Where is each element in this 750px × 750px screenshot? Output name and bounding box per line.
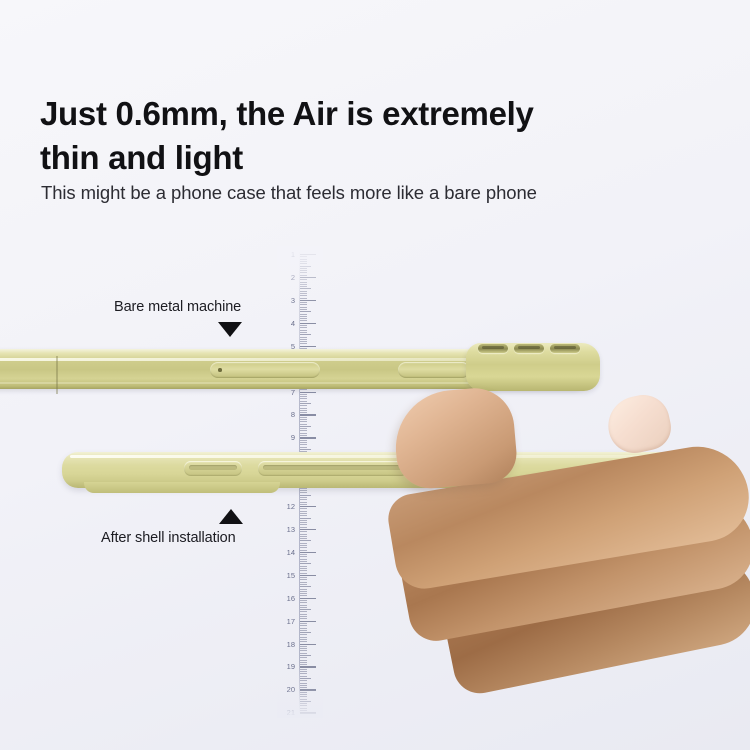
camera-lens-2 <box>514 344 544 353</box>
ruler-tick-minor <box>300 318 307 319</box>
ruler-tick-minor <box>300 584 307 585</box>
ruler-tick-minor <box>300 304 307 305</box>
subheadline: This might be a phone case that feels mo… <box>41 182 537 204</box>
ruler-tick-minor <box>300 559 307 560</box>
ruler-tick-minor <box>300 272 307 273</box>
ruler-tick-label: 2 <box>277 273 295 282</box>
ruler-tick-minor <box>300 504 307 505</box>
ruler-tick-minor <box>300 586 311 587</box>
ruler-tick-minor <box>300 341 307 342</box>
camera-lens-1 <box>478 344 508 353</box>
button-groove <box>263 465 403 470</box>
ruler-tick-minor <box>300 515 307 516</box>
ruler-tick-minor <box>300 288 311 289</box>
ruler-tick-major <box>300 437 316 438</box>
ruler-tick-minor <box>300 671 307 672</box>
ruler-tick-minor <box>300 708 307 709</box>
ruler-tick-minor <box>300 570 307 571</box>
hand-holding-phone <box>395 390 750 735</box>
ruler-tick-minor <box>300 607 307 608</box>
thumb <box>391 385 519 491</box>
ruler-tick-minor <box>300 419 307 420</box>
molded-volume-button-cover <box>258 461 408 476</box>
ruler-tick-minor <box>300 655 311 656</box>
ruler-tick-minor <box>300 518 311 519</box>
ruler-tick-minor <box>300 561 307 562</box>
ruler-tick-minor <box>300 424 307 425</box>
ruler-tick-minor <box>300 591 307 592</box>
ruler-tick-major <box>300 644 316 645</box>
ruler-tick-label: 13 <box>277 525 295 534</box>
triangle-up-icon <box>219 509 243 524</box>
headline-block: Just 0.6mm, the Air is extremely thin an… <box>40 92 660 179</box>
ruler-tick-minor <box>300 680 307 681</box>
ruler-tick-label: 20 <box>277 685 295 694</box>
ruler-tick-minor <box>300 683 307 684</box>
ruler-tick-major <box>300 666 316 667</box>
ruler-tick-minor <box>300 513 307 514</box>
ruler-tick-minor <box>300 314 307 315</box>
ruler-tick-minor <box>300 403 311 404</box>
ruler-tick-label: 9 <box>277 433 295 442</box>
ruler-tick-minor <box>300 522 307 523</box>
ruler-tick-minor <box>300 430 307 431</box>
ruler-tick-minor <box>300 605 307 606</box>
ruler-tick-minor <box>300 270 307 271</box>
ruler-tick-minor <box>300 703 307 704</box>
annotation-label-after-shell: After shell installation <box>101 530 236 546</box>
ruler-tick-minor <box>300 662 307 663</box>
ruler-tick-minor <box>300 520 307 521</box>
ruler-tick-minor <box>300 410 307 411</box>
ruler-tick-minor <box>300 618 307 619</box>
ruler-tick-minor <box>300 435 307 436</box>
ruler-tick-minor <box>300 616 307 617</box>
ruler-tick-minor <box>300 263 307 264</box>
ruler-tick-minor <box>300 412 307 413</box>
ruler-tick-minor <box>300 660 307 661</box>
ruler-tick-minor <box>300 421 307 422</box>
ruler-tick-minor <box>300 442 307 443</box>
ruler-tick-minor <box>300 307 307 308</box>
ruler-tick-minor <box>300 534 307 535</box>
ruler-tick-minor <box>300 563 311 564</box>
ruler-tick-minor <box>300 687 307 688</box>
ruler-tick-minor <box>300 692 307 693</box>
ruler-tick-minor <box>300 275 307 276</box>
ruler-tick-minor <box>300 286 307 287</box>
ruler-tick-minor <box>300 334 311 335</box>
ruler-tick-major <box>300 277 316 278</box>
ruler-tick-minor <box>300 696 307 697</box>
ruler-tick-label: 3 <box>277 296 295 305</box>
ruler-tick-minor <box>300 527 307 528</box>
ruler-tick-major <box>300 575 316 576</box>
ruler-tick-minor <box>300 293 307 294</box>
ruler-tick-label: 17 <box>277 617 295 626</box>
ruler-tick-minor <box>300 327 307 328</box>
ruler-tick-minor <box>300 332 307 333</box>
camera-lens-3 <box>550 344 580 353</box>
ruler-tick-minor <box>300 602 307 603</box>
ruler-tick-minor <box>300 648 307 649</box>
ruler-tick-major <box>300 598 316 599</box>
ruler-tick-label: 1 <box>277 250 295 259</box>
ruler-tick-minor <box>300 630 307 631</box>
ruler-tick-minor <box>300 396 307 397</box>
ruler-tick-label: 4 <box>277 319 295 328</box>
ruler-tick-minor <box>300 447 307 448</box>
ruler-tick-minor <box>300 676 307 677</box>
ruler-tick-minor <box>300 428 307 429</box>
ruler-tick-minor <box>300 426 311 427</box>
ruler-tick-minor <box>300 568 307 569</box>
headline-line-1: Just 0.6mm, the Air is extremely <box>40 92 660 136</box>
ruler-tick-minor <box>300 589 307 590</box>
ruler-tick-minor <box>300 502 307 503</box>
ruler-tick-minor <box>300 291 307 292</box>
triangle-down-icon <box>218 322 242 337</box>
ruler-tick-minor <box>300 609 311 610</box>
ruler-tick-minor <box>300 705 307 706</box>
ruler-tick-major <box>300 712 316 713</box>
ruler-tick-minor <box>300 673 307 674</box>
ruler-tick-minor <box>300 699 307 700</box>
ruler-tick-minor <box>300 417 307 418</box>
ruler-tick-minor <box>300 623 307 624</box>
headline-line-2: thin and light <box>40 136 660 180</box>
ruler-tick-minor <box>300 284 307 285</box>
ruler-tick-minor <box>300 556 307 557</box>
ruler-tick-minor <box>300 339 307 340</box>
ruler-tick-minor <box>300 536 307 537</box>
ruler-tick-minor <box>300 632 311 633</box>
ruler-tick-minor <box>300 614 307 615</box>
ruler-tick-minor <box>300 664 307 665</box>
ruler-tick-minor <box>300 499 307 500</box>
camera-plateau <box>466 343 600 391</box>
ruler-tick-minor <box>300 261 307 262</box>
ruler-tick-major <box>300 621 316 622</box>
ruler-tick-minor <box>300 398 307 399</box>
ruler-tick-minor <box>300 259 307 260</box>
ruler-tick-minor <box>300 611 307 612</box>
ruler-tick-minor <box>300 685 307 686</box>
ruler-tick-minor <box>300 268 307 269</box>
ruler-tick-minor <box>300 311 311 312</box>
ruler-tick-minor <box>300 538 307 539</box>
ruler-tick-minor <box>300 650 307 651</box>
annotation-label-bare-metal: Bare metal machine <box>114 299 241 315</box>
ruler-tick-minor <box>300 579 307 580</box>
ruler-tick-label: 15 <box>277 571 295 580</box>
ruler-tick-minor <box>300 531 307 532</box>
ruler-tick-major <box>300 689 316 690</box>
ruler-tick-minor <box>300 511 307 512</box>
ruler-tick-minor <box>300 639 307 640</box>
ruler-tick-minor <box>300 545 307 546</box>
ruler-tick-minor <box>300 309 307 310</box>
ruler-tick-minor <box>300 325 307 326</box>
ruler-tick-minor <box>300 279 307 280</box>
ruler-tick-major <box>300 300 316 301</box>
ruler-tick-label: 14 <box>277 548 295 557</box>
ruler-tick-minor <box>300 524 307 525</box>
ruler-tick-minor <box>300 543 307 544</box>
microphone-pinhole <box>218 368 222 372</box>
ruler-tick-major <box>300 414 316 415</box>
antenna-seam <box>56 356 58 394</box>
ruler-tick-minor <box>300 634 307 635</box>
ruler-tick-minor <box>300 637 307 638</box>
case-bottom-lip <box>84 482 280 493</box>
ruler-tick-minor <box>300 701 311 702</box>
ruler-tick-label: 12 <box>277 502 295 511</box>
ruler-tick-minor <box>300 540 311 541</box>
ruler-tick-minor <box>300 433 307 434</box>
ruler-tick-minor <box>300 337 307 338</box>
ruler-tick-minor <box>300 582 307 583</box>
ruler-tick-major <box>300 529 316 530</box>
ruler-tick-label: 21 <box>277 708 295 717</box>
ruler-tick-minor <box>300 550 307 551</box>
ruler-tick-minor <box>300 444 307 445</box>
ruler-tick-minor <box>300 669 307 670</box>
ruler-tick-minor <box>300 628 307 629</box>
ruler-tick-minor <box>300 401 307 402</box>
ruler-tick-minor <box>300 653 307 654</box>
ruler-tick-minor <box>300 320 307 321</box>
ruler-tick-minor <box>300 316 307 317</box>
ruler-tick-minor <box>300 678 311 679</box>
ruler-tick-minor <box>300 657 307 658</box>
ruler-tick-minor <box>300 554 307 555</box>
thumbnail <box>603 390 675 458</box>
ruler-tick-major <box>300 323 316 324</box>
volume-up-button <box>398 362 470 378</box>
molded-action-button-cover <box>184 461 242 476</box>
ruler-tick-minor <box>300 266 311 267</box>
ruler-tick-minor <box>300 577 307 578</box>
ruler-tick-label: 19 <box>277 662 295 671</box>
product-marketing-image: Just 0.6mm, the Air is extremely thin an… <box>0 0 750 750</box>
ruler-tick-minor <box>300 408 307 409</box>
ruler-tick-minor <box>300 710 307 711</box>
ruler-tick-minor <box>300 298 307 299</box>
ruler-tick-minor <box>300 440 307 441</box>
ruler-tick-minor <box>300 508 307 509</box>
ruler-tick-minor <box>300 295 307 296</box>
bare-metal-phone <box>0 343 630 395</box>
button-groove <box>189 465 237 470</box>
ruler-tick-minor <box>300 547 307 548</box>
ruler-tick-minor <box>300 256 307 257</box>
ruler-tick-minor <box>300 694 307 695</box>
action-button <box>210 362 320 378</box>
ruler-tick-minor <box>300 646 307 647</box>
ruler-tick-label: 8 <box>277 410 295 419</box>
ruler-tick-minor <box>300 600 307 601</box>
ruler-tick-minor <box>300 282 307 283</box>
ruler-tick-label: 18 <box>277 640 295 649</box>
ruler-tick-minor <box>300 330 307 331</box>
ruler-tick-minor <box>300 405 307 406</box>
ruler-tick-minor <box>300 625 307 626</box>
ruler-tick-minor <box>300 302 307 303</box>
ruler-tick-major <box>300 552 316 553</box>
ruler-tick-minor <box>300 593 307 594</box>
ruler-tick-minor <box>300 641 307 642</box>
ruler-tick-minor <box>300 573 307 574</box>
ruler-tick-minor <box>300 566 307 567</box>
ruler-tick-major <box>300 506 316 507</box>
ruler-tick-minor <box>300 449 311 450</box>
ruler-tick-minor <box>300 595 307 596</box>
ruler-tick-label: 16 <box>277 594 295 603</box>
ruler-tick-major <box>300 254 316 255</box>
